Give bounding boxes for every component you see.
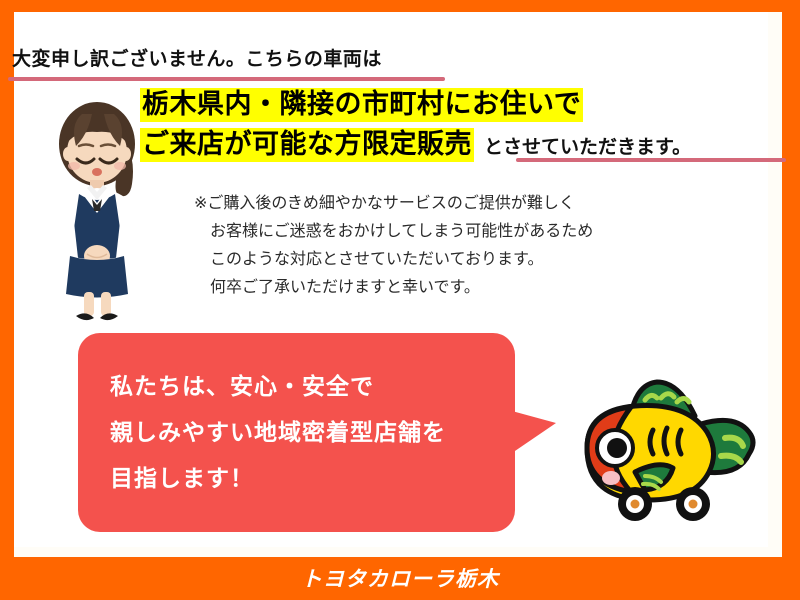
- note-line-2: お客様にご迷惑をおかけしてしまう可能性があるため: [194, 218, 593, 246]
- speech-bubble-tail: [512, 411, 556, 453]
- header-divider: [8, 77, 445, 81]
- note-line-1: ※ご購入後のきめ細やかなサービスのご提供が難しく: [194, 190, 593, 218]
- highlight-line-2: ご来店が可能な方限定販売: [140, 128, 474, 162]
- note-line-3: このような対応とさせていただいております。: [194, 246, 593, 274]
- message-divider: [516, 158, 786, 162]
- speech-bubble-line-1: 私たちは、安心・安全で: [110, 363, 446, 409]
- notice-poster: 大変申し訳ございません。こちらの車両は: [0, 0, 800, 600]
- main-message: 栃木県内・隣接の市町村にお住いで ご来店が可能な方限定販売とさせていただきます。: [140, 88, 691, 168]
- fish-car-mascot: [575, 372, 765, 527]
- speech-bubble: 私たちは、安心・安全で 親しみやすい地域密着型店舗を 目指します！: [78, 333, 515, 532]
- speech-bubble-text: 私たちは、安心・安全で 親しみやすい地域密着型店舗を 目指します！: [110, 363, 446, 501]
- main-message-trailing-text: とさせていただきます。: [474, 138, 691, 157]
- highlight-line-1-row: 栃木県内・隣接の市町村にお住いで: [140, 88, 691, 122]
- dealer-name: トヨタカローラ栃木: [0, 563, 800, 593]
- speech-bubble-line-3: 目指します！: [110, 455, 446, 501]
- apology-header: 大変申し訳ございません。こちらの車両は: [12, 44, 382, 71]
- highlight-line-2-row: ご来店が可能な方限定販売とさせていただきます。: [140, 128, 691, 162]
- note-line-4: 何卒ご了承いただけますと幸いです。: [194, 274, 593, 302]
- notes-block: ※ご購入後のきめ細やかなサービスのご提供が難しく お客様にご迷惑をおかけしてしま…: [194, 190, 593, 302]
- highlight-line-1: 栃木県内・隣接の市町村にお住いで: [140, 88, 583, 122]
- speech-bubble-line-2: 親しみやすい地域密着型店舗を: [110, 409, 446, 455]
